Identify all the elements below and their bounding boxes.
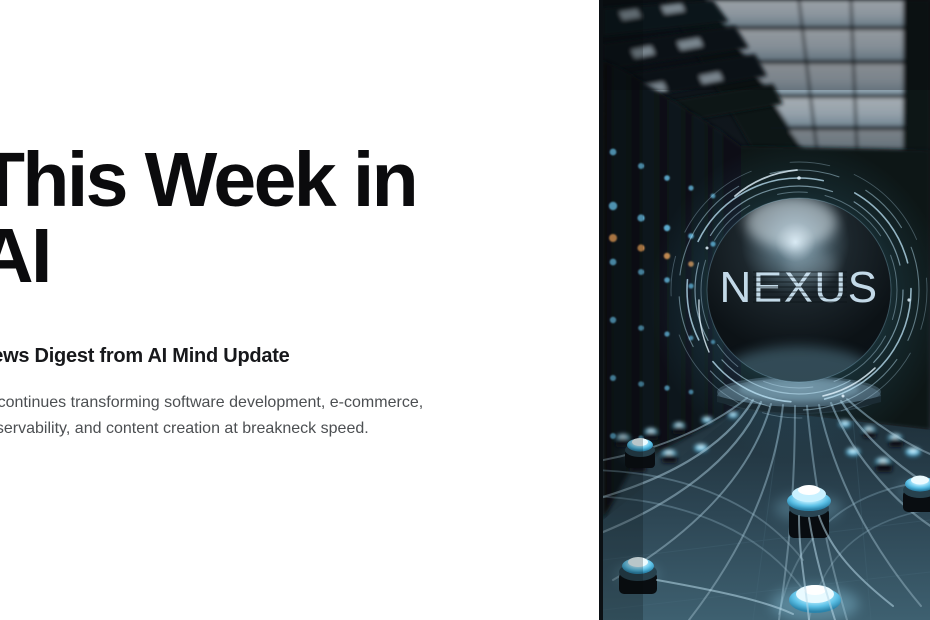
datacenter-scene-graphic: NEXUS bbox=[603, 0, 930, 620]
hero-text-block: This Week in AI News Digest from AI Mind… bbox=[0, 142, 538, 442]
hero-subtitle: News Digest from AI Mind Update bbox=[0, 343, 538, 369]
hero-image-panel: NEXUS bbox=[599, 0, 930, 620]
hero-text-panel: This Week in AI News Digest from AI Mind… bbox=[0, 0, 599, 620]
hero-description: AI continues transforming software devel… bbox=[0, 390, 483, 442]
hero-banner: This Week in AI News Digest from AI Mind… bbox=[0, 0, 930, 620]
datacenter-artwork: NEXUS bbox=[603, 0, 930, 620]
page-title: This Week in AI bbox=[0, 142, 538, 294]
